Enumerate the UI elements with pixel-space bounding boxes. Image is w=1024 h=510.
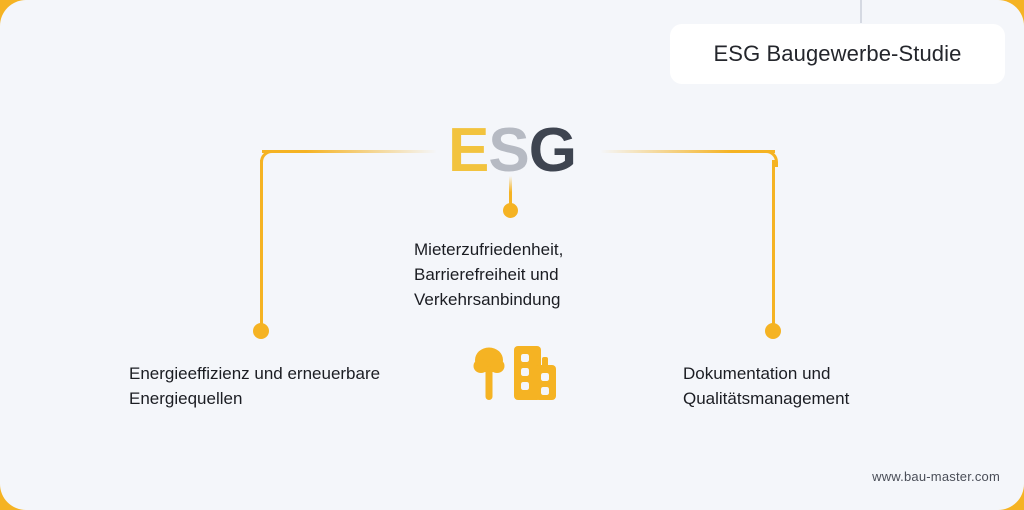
tree-and-buildings-icon — [472, 344, 562, 404]
connector-dot-right — [765, 323, 781, 339]
page-title: ESG Baugewerbe-Studie — [714, 41, 962, 67]
slide-canvas-backing: ESG Baugewerbe-Studie ESG Mieterzufriede… — [0, 0, 1024, 510]
esg-letter-g: G — [529, 116, 576, 185]
connector-dot-left — [253, 323, 269, 339]
connector-right-vertical — [772, 160, 775, 328]
footer-url: www.bau-master.com — [872, 469, 1000, 484]
connector-dot-center — [503, 203, 518, 218]
esg-letter-e: E — [448, 116, 488, 185]
esg-wordmark: ESG — [0, 118, 1024, 184]
pillar-label-environmental: Energieeffizienz und erneuerbare Energie… — [129, 361, 429, 411]
title-card: ESG Baugewerbe-Studie — [670, 24, 1005, 84]
connector-left-vertical — [260, 160, 263, 328]
esg-letter-s: S — [488, 116, 528, 185]
pillar-label-governance: Dokumentation und Qualitätsmanagement — [683, 361, 953, 411]
pillar-label-social: Mieterzufriedenheit, Barrierefreiheit un… — [414, 237, 654, 312]
connector-right-horizontal — [600, 150, 775, 153]
top-divider-tick — [860, 0, 862, 23]
slide-canvas: ESG Baugewerbe-Studie ESG Mieterzufriede… — [0, 0, 1024, 510]
connector-left-horizontal — [262, 150, 437, 153]
